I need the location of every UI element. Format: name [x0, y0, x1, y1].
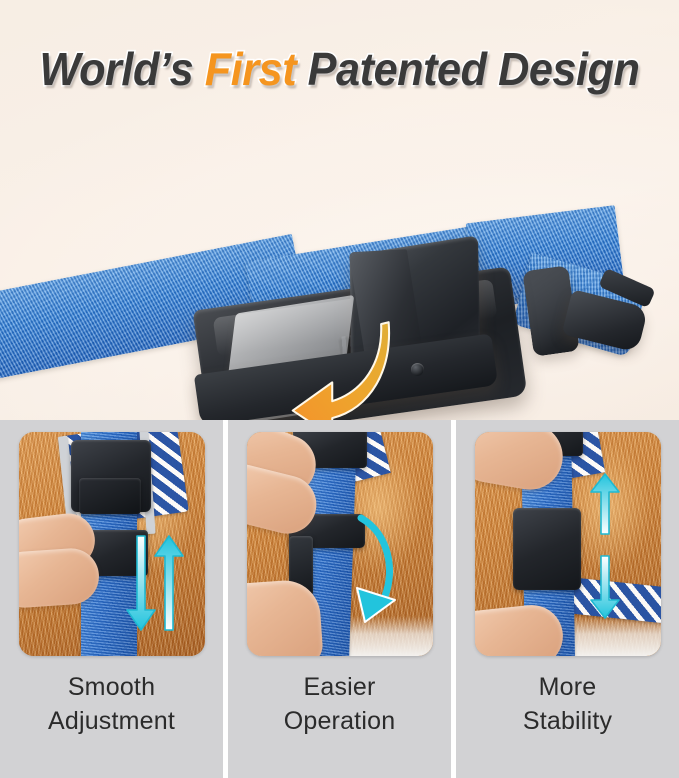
feature-panel-easier-operation[interactable]: Easier Operation [228, 420, 451, 778]
caption-line-1: Easier [284, 670, 396, 704]
panel-photo-2 [247, 432, 433, 656]
hero-product-photo [0, 118, 679, 418]
up-down-arrow-pair-icon [579, 472, 639, 622]
caption-line-1: More [523, 670, 612, 704]
arrow-down-icon [591, 556, 619, 618]
headline-highlight: First [205, 43, 296, 95]
product-feature-graphic: World’s First Patented Design [0, 0, 679, 778]
feature-panel-more-stability[interactable]: More Stability [456, 420, 679, 778]
feature-panel-strip: Smooth Adjustment [0, 420, 679, 778]
panel-photo-1 [19, 432, 205, 656]
page-title: World’s First Patented Design [20, 40, 658, 98]
headline-after: Patented Design [296, 43, 639, 95]
cam-lock-buckle [513, 508, 581, 590]
curved-down-arrow-icon [250, 308, 410, 420]
caption-line-1: Smooth [48, 670, 175, 704]
feature-panel-smooth-adjustment[interactable]: Smooth Adjustment [0, 420, 223, 778]
panel-caption-2: Easier Operation [284, 670, 396, 738]
arrow-down-icon [127, 536, 155, 630]
caption-line-2: Adjustment [48, 704, 175, 738]
headline-before: World’s [40, 43, 205, 95]
panel-caption-3: More Stability [523, 670, 612, 738]
arrow-up-icon [591, 474, 619, 534]
panel-photo-3 [475, 432, 661, 656]
hero-section: World’s First Patented Design [0, 0, 679, 420]
panel-caption-1: Smooth Adjustment [48, 670, 175, 738]
arrow-up-icon [155, 536, 183, 630]
curved-arrow-down-icon [343, 508, 423, 628]
buckle-pivot-rivet [411, 363, 424, 376]
caption-line-2: Stability [523, 704, 612, 738]
caption-line-2: Operation [284, 704, 396, 738]
up-down-arrow-pair-icon [123, 518, 193, 648]
buckle-slot [79, 478, 141, 514]
